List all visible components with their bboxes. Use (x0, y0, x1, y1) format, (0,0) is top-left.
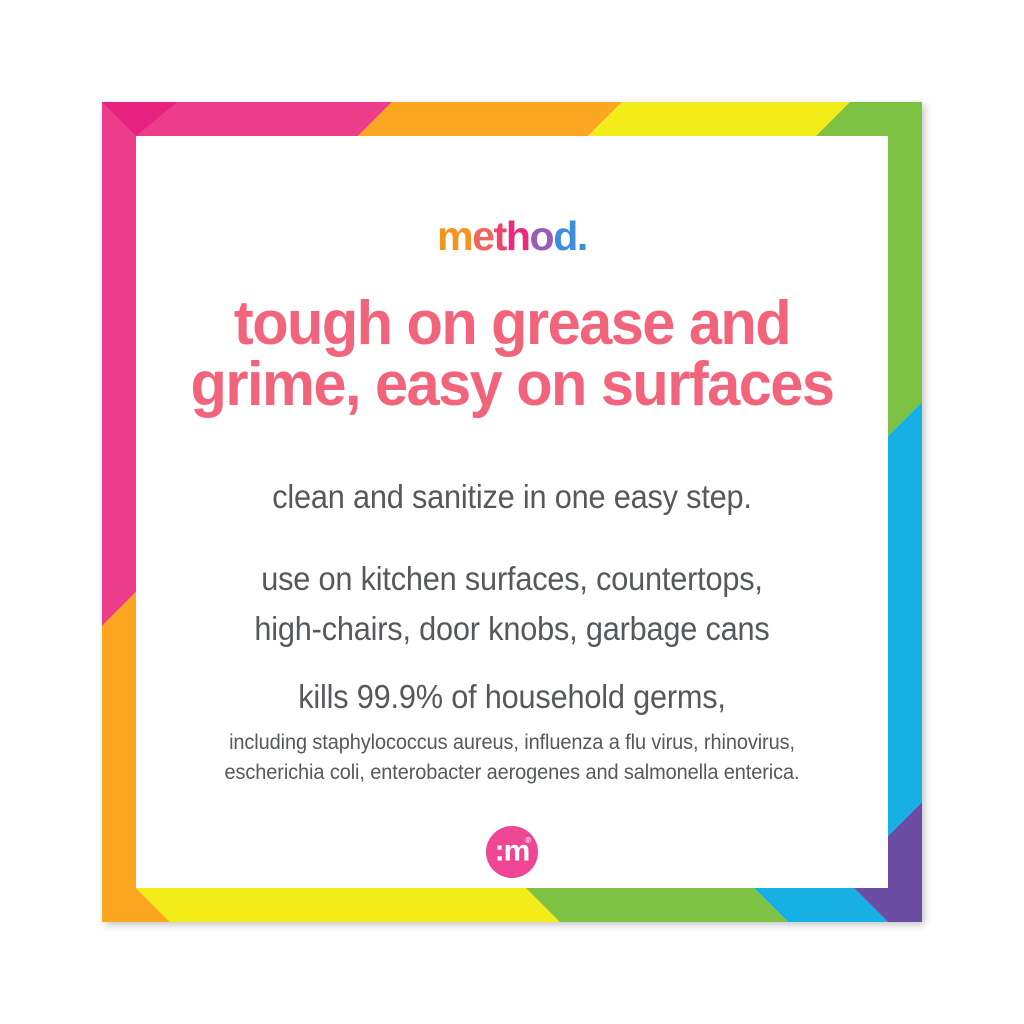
wordmark-letter-o: o (530, 213, 554, 259)
fine-print: including staphylococcus aureus, influen… (155, 728, 869, 789)
lede-text: clean and sanitize in one easy step. (162, 478, 861, 516)
rainbow-border-frame: method. tough on grease and grime, easy … (102, 102, 922, 922)
fine-print-line-2: escherichia coli, enterobacter aerogenes… (155, 758, 869, 788)
border-segment-right-green (888, 102, 922, 436)
method-circle-badge: :m ® (486, 826, 538, 878)
border-segment-top-orange (358, 102, 622, 136)
wordmark-letter-dot: . (577, 213, 587, 259)
border-segment-bottom-yellow (136, 888, 560, 922)
fine-print-line-1: including staphylococcus aureus, influen… (155, 728, 869, 758)
wordmark-letter-m: m (437, 213, 472, 259)
uses-line-1: use on kitchen surfaces, countertops, (162, 554, 861, 604)
product-headline: tough on grease and grime, easy on surfa… (151, 294, 873, 416)
border-segment-left-orange (102, 592, 136, 922)
border-segment-top-yellow (588, 102, 850, 136)
germ-kill-claim: kills 99.9% of household germs, (162, 678, 861, 716)
method-wordmark: method. (136, 216, 888, 257)
uses-line-2: high-chairs, door knobs, garbage cans (162, 604, 861, 654)
registered-trademark-icon: ® (525, 837, 531, 845)
brand-badge-wrapper: :m ® (136, 826, 888, 886)
headline-line-1: tough on grease and (234, 289, 790, 358)
uses-text: use on kitchen surfaces, countertops, hi… (162, 554, 861, 653)
wordmark-letter-e: e (472, 213, 493, 259)
border-segment-bottom-green (526, 888, 788, 922)
label-inner-panel: method. tough on grease and grime, easy … (136, 136, 888, 888)
wordmark-letter-h: h (506, 213, 530, 259)
headline-line-2: grime, easy on surfaces (157, 355, 867, 416)
wordmark-letter-d: d (553, 213, 577, 259)
border-segment-right-cyan (888, 402, 922, 836)
border-segment-left-pink (102, 102, 136, 626)
label-content: method. tough on grease and grime, easy … (136, 136, 888, 888)
wordmark-letter-t: t (494, 213, 506, 259)
product-label-canvas: method. tough on grease and grime, easy … (0, 0, 1024, 1024)
